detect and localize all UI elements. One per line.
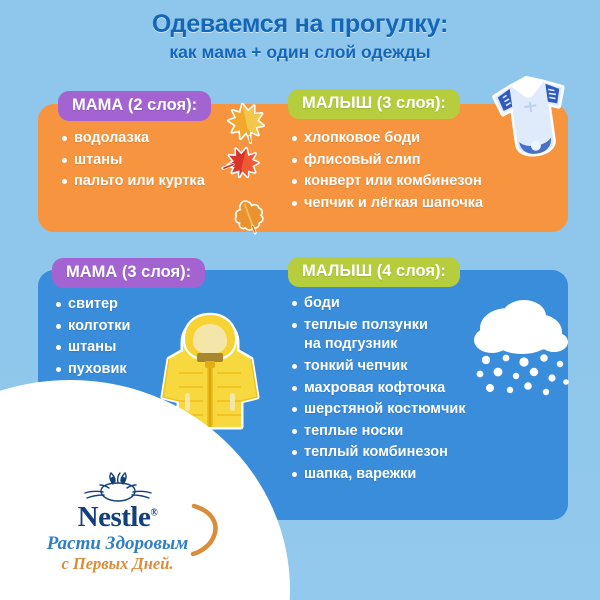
badge-mom-2-layers: МАМА (2 слоя): [58,91,211,121]
list-item: штаны [62,153,205,168]
list-baby-autumn: хлопковое боди флисовый слип конверт или… [292,131,483,217]
badge-mom-3-layers: МАМА (3 слоя): [52,258,205,288]
baby-bodysuit-icon [486,68,578,173]
infographic-root: Одеваемся на прогулку: как мама + один с… [0,0,600,600]
bullet-dot-icon [56,367,61,372]
snow-cloud-icon [466,298,578,407]
badge-baby-3-layers: МАЛЫШ (3 слоя): [288,89,460,119]
bullet-dot-icon [292,179,297,184]
list-item: флисовый слип [292,153,483,168]
list-item: свитер [56,297,130,312]
nestle-tagline-line-2: с Первых Дней. [25,555,210,572]
list-item: теплые носки [292,424,466,439]
bullet-dot-icon [292,136,297,141]
list-item: теплый комбинезон [292,445,466,460]
bullet-dot-icon [292,364,297,369]
bullet-dot-icon [292,450,297,455]
bullet-dot-icon [292,407,297,412]
bullet-dot-icon [62,179,67,184]
list-baby-winter: боди теплые ползунки на подгузник тонкий… [292,296,466,488]
nestle-nest-icon [75,471,161,505]
bullet-dot-icon [62,158,67,163]
bullet-dot-icon [56,345,61,350]
bullet-dot-icon [292,429,297,434]
list-item: конверт или комбинезон [292,174,483,189]
title-main: Одеваемся на прогулку: [0,10,600,39]
nestle-logo: Nestle® Расти Здоровым с Первых Дней. [25,471,210,572]
bullet-dot-icon [292,386,297,391]
list-item: колготки [56,319,130,334]
badge-baby-4-layers: МАЛЫШ (4 слоя): [288,257,460,287]
list-item: тонкий чепчик [292,359,466,374]
page-title: Одеваемся на прогулку: как мама + один с… [0,10,600,63]
list-item: пальто или куртка [62,174,205,189]
list-item: шерстяной костюмчик [292,402,466,417]
list-item: боди [292,296,466,311]
oak-leaf-orange-icon [226,196,272,245]
list-item: теплые ползунки [292,318,466,333]
bullet-dot-icon [56,302,61,307]
nestle-swoosh-icon [190,502,224,558]
bullet-dot-icon [62,136,67,141]
list-item: штаны [56,340,130,355]
nestle-wordmark: Nestle® [25,503,210,532]
bullet-dot-icon [56,324,61,329]
list-item: махровая кофточка [292,381,466,396]
bullet-dot-icon [292,158,297,163]
bullet-dot-icon [292,301,297,306]
list-item: хлопковое боди [292,131,483,146]
registered-mark: ® [150,507,157,518]
list-mom-autumn: водолазка штаны пальто или куртка [62,131,205,196]
bullet-dot-icon [292,201,297,206]
bullet-dot-icon [292,323,297,328]
list-item: пуховик [56,362,130,377]
nestle-tagline-line-1: Расти Здоровым [25,534,210,554]
title-subtitle: как мама + один слой одежды [0,42,600,63]
list-item: чепчик и лёгкая шапочка [292,196,483,211]
list-item: шапка, варежки [292,467,466,482]
list-item: водолазка [62,131,205,146]
bullet-dot-icon [292,472,297,477]
maple-leaf-red-icon [216,140,268,189]
list-item-continuation: на подгузник [304,336,466,352]
